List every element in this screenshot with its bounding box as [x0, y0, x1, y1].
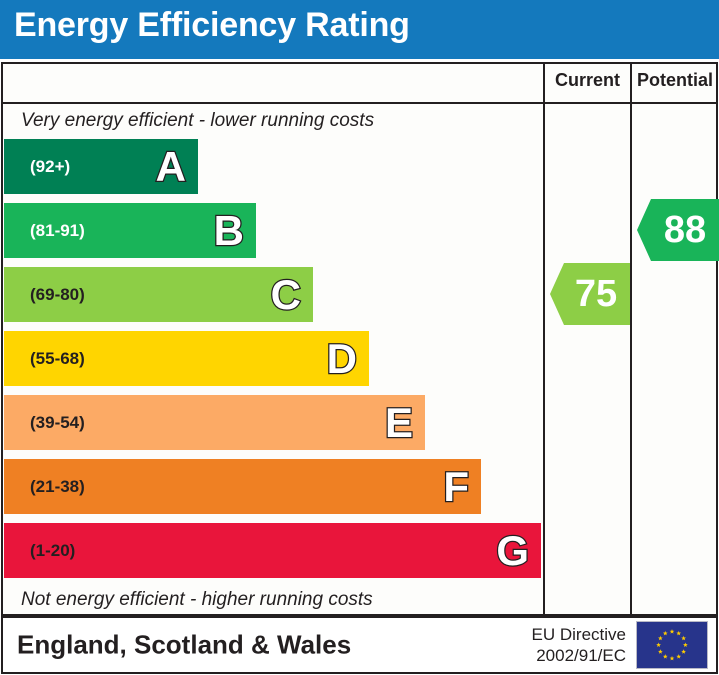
footer-region-label: England, Scotland & Wales: [17, 630, 351, 661]
band-letter-label: E: [385, 402, 413, 444]
caption-bottom: Not energy efficient - higher running co…: [21, 589, 373, 611]
band-letter-label: F: [443, 466, 469, 508]
band-range-label: (81-91): [30, 221, 85, 241]
column-divider-potential: [630, 64, 632, 614]
eu-flag-icon: [636, 621, 708, 669]
directive-line-2: 2002/91/EC: [532, 645, 626, 666]
footer-directive-label: EU Directive 2002/91/EC: [532, 624, 626, 667]
chart-title-bar: Energy Efficiency Rating: [0, 0, 719, 59]
band-range-label: (1-20): [30, 541, 75, 561]
column-divider-current: [543, 64, 545, 614]
band-range-label: (55-68): [30, 349, 85, 369]
column-header-current: Current: [545, 70, 630, 91]
header-divider: [3, 102, 716, 104]
band-list: (92+)A(81-91)B(69-80)C(55-68)D(39-54)E(2…: [3, 139, 543, 584]
rating-table: Current Potential Very energy efficient …: [1, 62, 718, 616]
band-letter-label: D: [327, 338, 357, 380]
band-letter-label: B: [214, 210, 244, 252]
rating-arrow-potential: 88: [637, 199, 719, 261]
band-e: (39-54)E: [4, 395, 425, 450]
band-range-label: (21-38): [30, 477, 85, 497]
band-f: (21-38)F: [4, 459, 481, 514]
band-letter-label: G: [496, 530, 529, 572]
band-letter-label: A: [156, 146, 186, 188]
rating-arrow-current: 75: [550, 263, 630, 325]
band-d: (55-68)D: [4, 331, 369, 386]
band-c: (69-80)C: [4, 267, 313, 322]
band-range-label: (92+): [30, 157, 70, 177]
column-header-potential: Potential: [632, 70, 718, 91]
chart-footer: England, Scotland & Wales EU Directive 2…: [1, 616, 718, 674]
band-range-label: (69-80): [30, 285, 85, 305]
band-b: (81-91)B: [4, 203, 256, 258]
band-g: (1-20)G: [4, 523, 541, 578]
caption-top: Very energy efficient - lower running co…: [21, 110, 374, 132]
directive-line-1: EU Directive: [532, 624, 626, 645]
band-a: (92+)A: [4, 139, 198, 194]
band-letter-label: C: [271, 274, 301, 316]
energy-efficiency-rating-chart: Energy Efficiency Rating Current Potenti…: [0, 0, 719, 675]
page-title: Energy Efficiency Rating: [14, 6, 410, 45]
band-range-label: (39-54): [30, 413, 85, 433]
